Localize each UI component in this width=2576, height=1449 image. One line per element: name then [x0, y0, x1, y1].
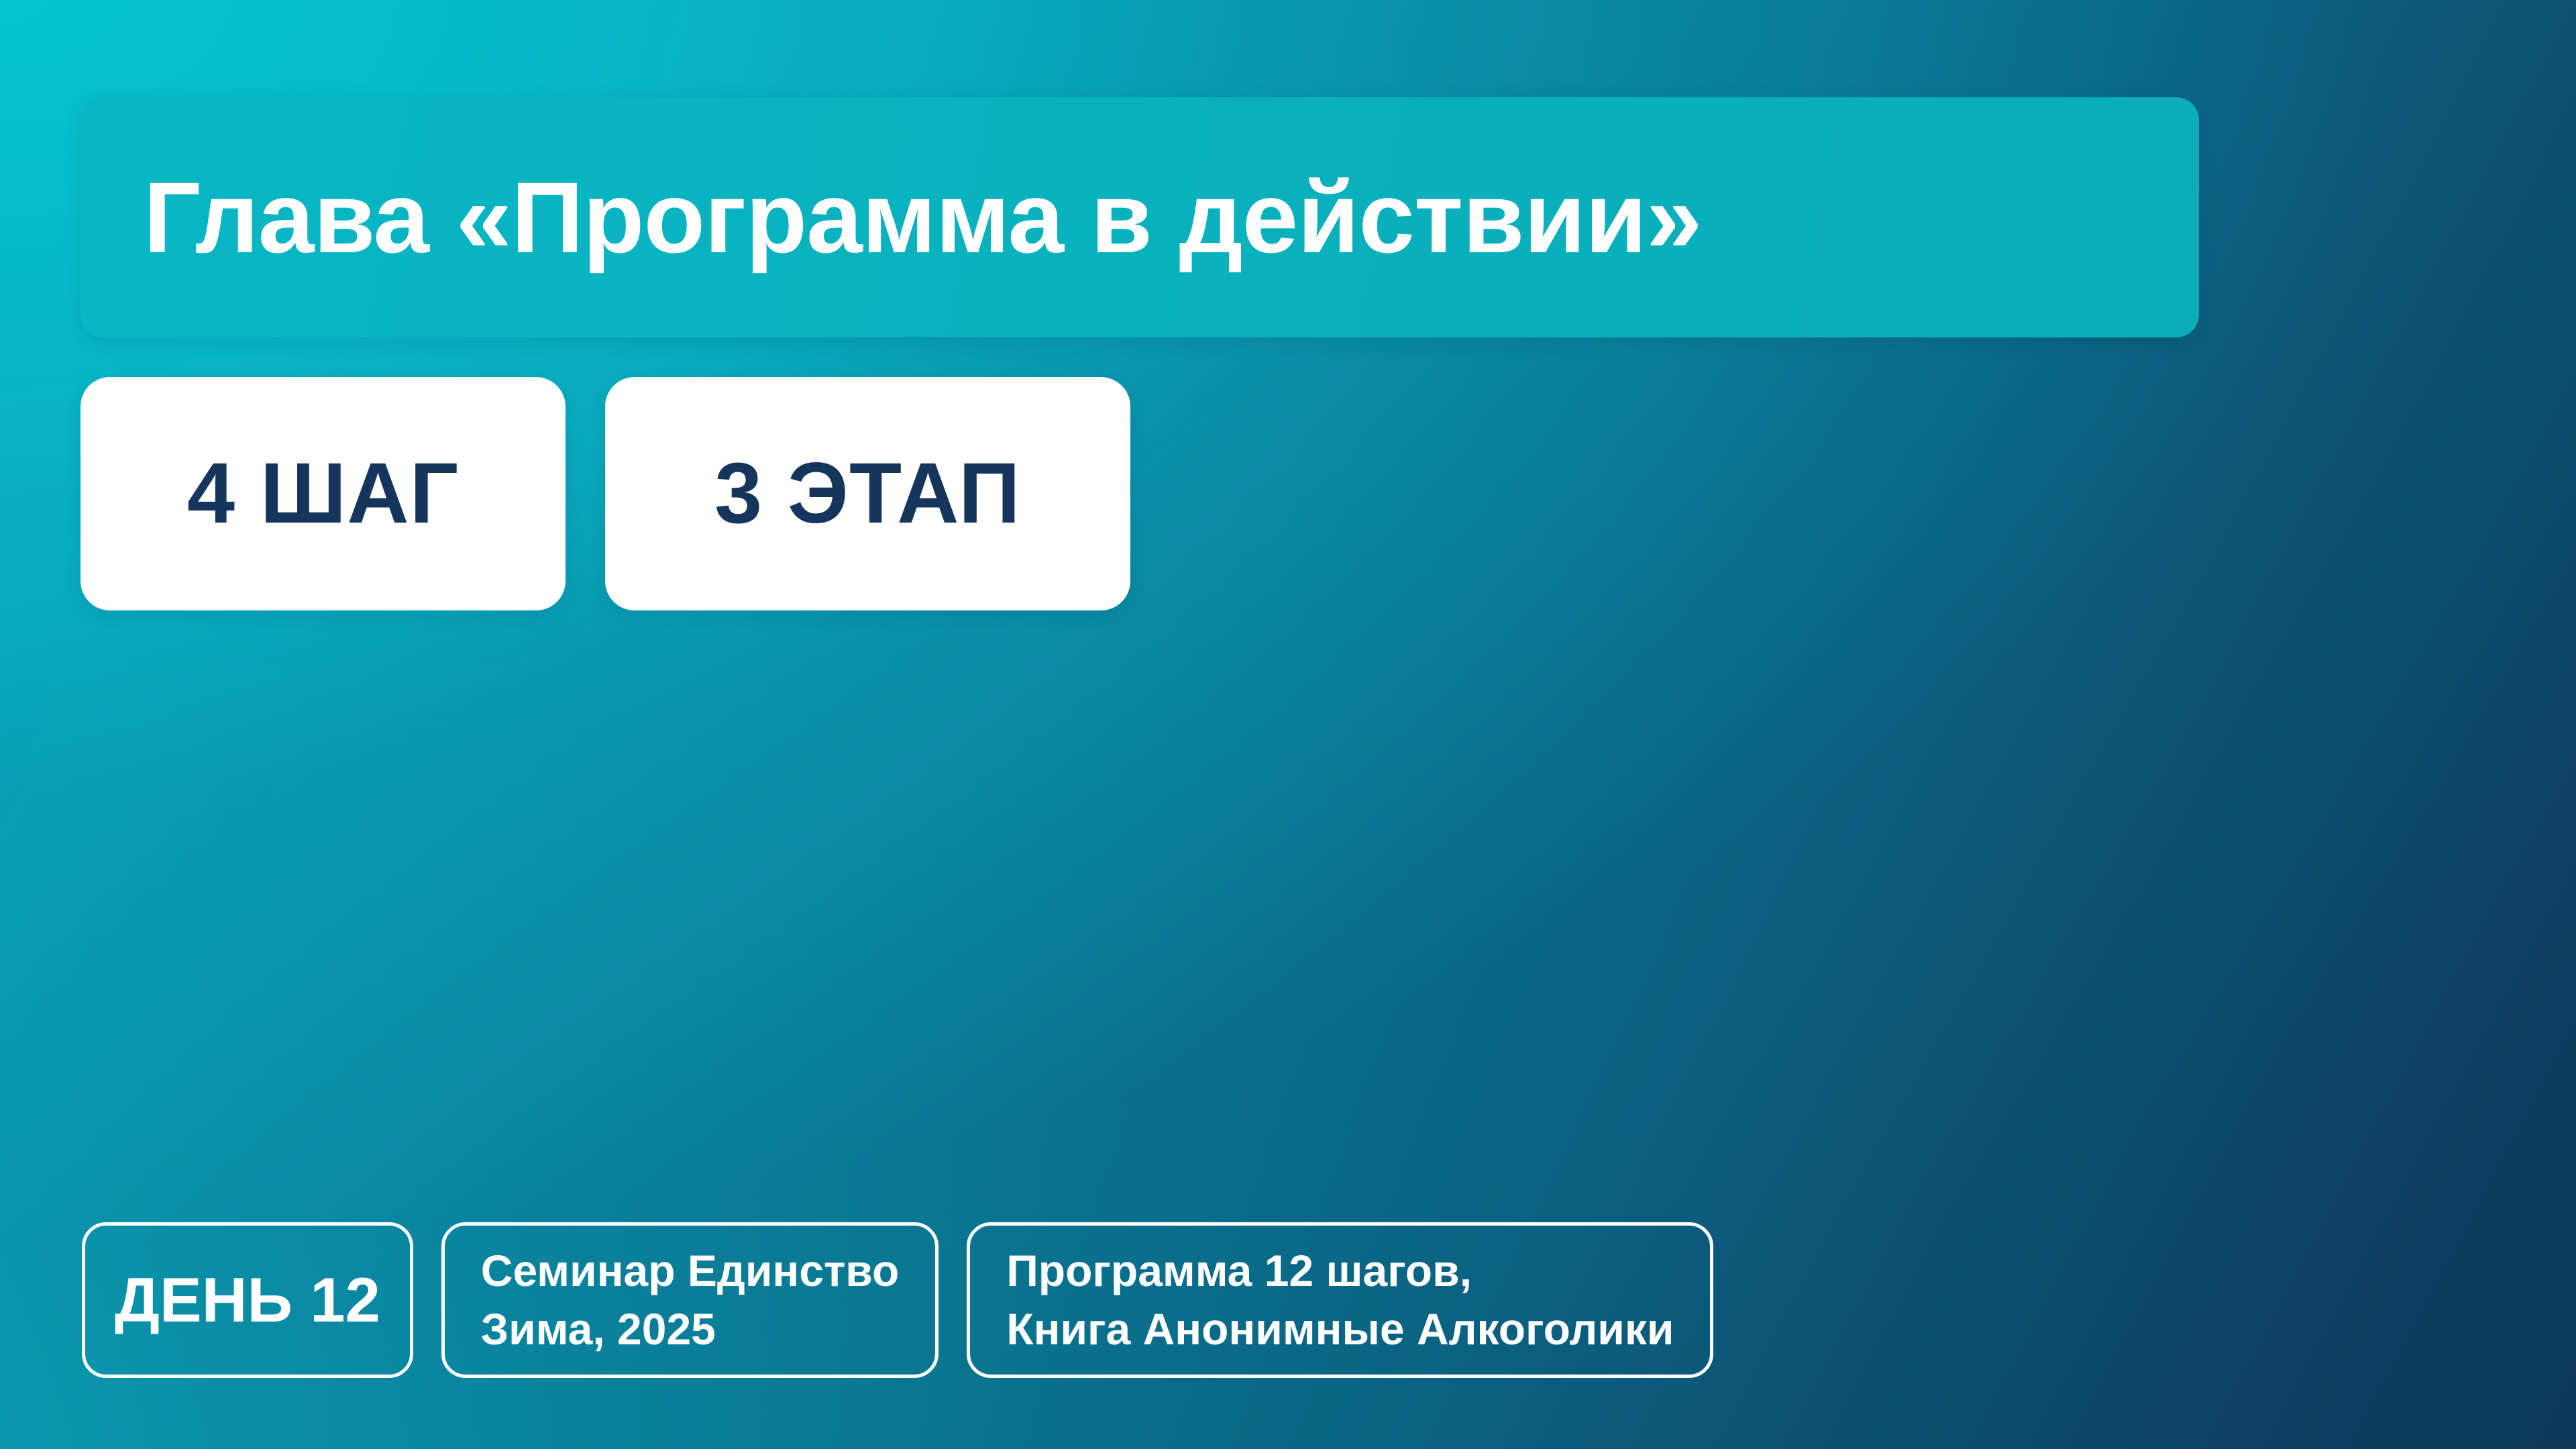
footer-meta-row: ДЕНЬ 12 Семинар Единство Зима, 2025 Прог… — [82, 1222, 1713, 1378]
step-badge-label: 4 ШАГ — [187, 451, 459, 537]
page-title: Глава «Программа в действии» — [80, 166, 1701, 269]
seminar-badge: Семинар Единство Зима, 2025 — [441, 1222, 939, 1378]
source-badge: Программа 12 шагов, Книга Анонимные Алко… — [967, 1222, 1713, 1378]
day-badge-label: ДЕНЬ 12 — [115, 1269, 380, 1332]
seminar-season-year: Зима, 2025 — [481, 1301, 900, 1357]
seminar-badge-lines: Семинар Единство Зима, 2025 — [481, 1243, 900, 1357]
source-book: Книга Анонимные Алкоголики — [1006, 1301, 1674, 1357]
source-badge-lines: Программа 12 шагов, Книга Анонимные Алко… — [1006, 1243, 1674, 1357]
step-badge: 4 ШАГ — [80, 377, 566, 610]
day-badge: ДЕНЬ 12 — [82, 1222, 413, 1378]
badge-row: 4 ШАГ 3 ЭТАП — [80, 377, 1130, 610]
source-program: Программа 12 шагов, — [1006, 1243, 1674, 1299]
chapter-title-banner: Глава «Программа в действии» — [80, 97, 2199, 337]
seminar-name: Семинар Единство — [481, 1243, 900, 1299]
stage-badge-label: 3 ЭТАП — [714, 451, 1021, 537]
slide-canvas: Глава «Программа в действии» 4 ШАГ 3 ЭТА… — [0, 0, 2576, 1449]
stage-badge: 3 ЭТАП — [605, 377, 1130, 610]
